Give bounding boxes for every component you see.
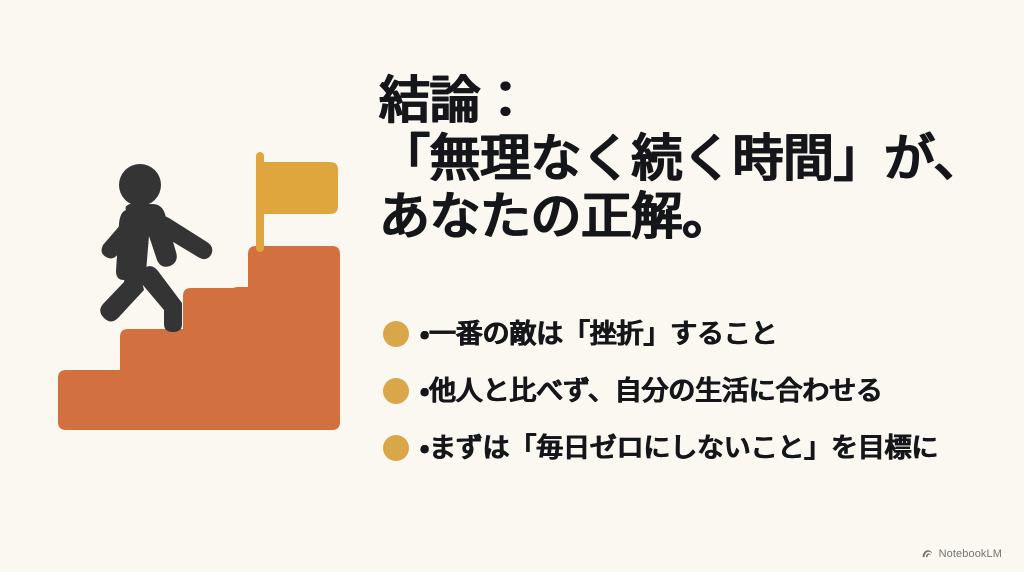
title-line-3: あなたの正解。 [379, 188, 999, 246]
bullet-dot-icon [383, 378, 409, 404]
bullet-list: ・一番の敵は「挫折」すること ・他人と比べず、自分の生活に合わせる ・まずは「毎… [383, 305, 1003, 476]
bullet-label-3: ・まずは「毎日ゼロにしないこと」を目標に [420, 431, 938, 465]
bullet-label-1: ・一番の敵は「挫折」すること [420, 317, 777, 351]
watermark-label: NotebookLM [939, 548, 1002, 560]
bullet-item-3: ・まずは「毎日ゼロにしないこと」を目標に [383, 419, 1003, 476]
title-line-1: 結論： [379, 72, 999, 130]
bullet-dot-icon [383, 321, 409, 347]
slide-canvas: 結論： 「無理なく続く時間」が、 あなたの正解。 ・一番の敵は「挫折」すること … [0, 0, 1024, 572]
slide-title: 結論： 「無理なく続く時間」が、 あなたの正解。 [379, 72, 999, 246]
notebooklm-logo-icon [921, 547, 934, 560]
bullet-item-1: ・一番の敵は「挫折」すること [383, 305, 1003, 362]
stairs-illustration [40, 140, 360, 440]
stairs-shape [58, 246, 340, 430]
flag-icon [256, 152, 338, 252]
bullet-dot-icon [383, 435, 409, 461]
bullet-label-2: ・他人と比べず、自分の生活に合わせる [420, 374, 883, 408]
watermark: NotebookLM [921, 547, 1002, 560]
title-line-2: 「無理なく続く時間」が、 [379, 130, 999, 188]
bullet-item-2: ・他人と比べず、自分の生活に合わせる [383, 362, 1003, 419]
